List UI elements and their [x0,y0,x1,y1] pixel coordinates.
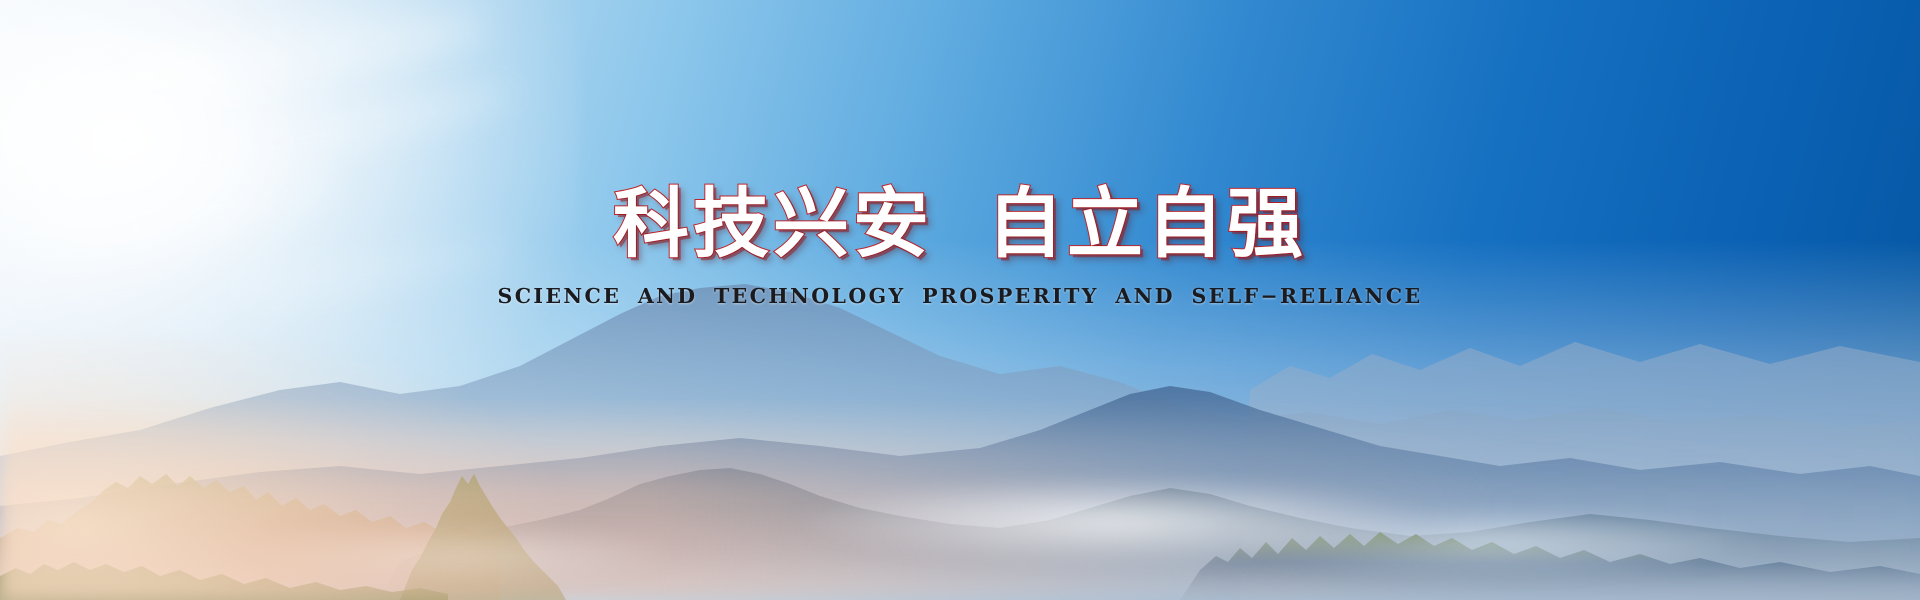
headline-part-1: 科技兴安 [613,179,933,268]
banner-text-block: 科技兴安自立自强 SCIENCE AND TECHNOLOGY PROSPERI… [0,186,1920,308]
mountain-landscape [0,270,1920,600]
bottom-left-shrubs [0,270,1920,600]
hero-banner: 科技兴安自立自强 SCIENCE AND TECHNOLOGY PROSPERI… [0,0,1920,600]
page-subtitle: SCIENCE AND TECHNOLOGY PROSPERITY AND SE… [0,284,1920,308]
page-title: 科技兴安自立自强 [0,186,1920,262]
headline-part-2: 自立自强 [987,179,1307,268]
